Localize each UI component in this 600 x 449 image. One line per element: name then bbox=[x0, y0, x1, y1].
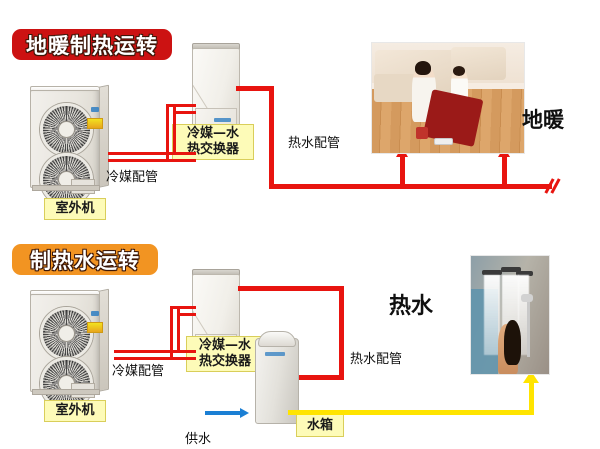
photo-handheld-shower bbox=[521, 294, 533, 302]
photo-woman-hair bbox=[415, 61, 432, 75]
outdoor-unit-2 bbox=[26, 288, 108, 396]
photo-child-hair bbox=[453, 66, 465, 76]
hotwater-pipe-riser-1 bbox=[269, 86, 274, 189]
outdoor-unit-body bbox=[30, 90, 100, 188]
refrigerant-pipe-vertical-inner-1 bbox=[166, 104, 169, 159]
photo-red-box bbox=[416, 127, 428, 139]
fan-icon bbox=[40, 307, 93, 360]
section-badge-floor-heating: 地暖制热运转 bbox=[12, 29, 172, 60]
hotwater-pipe-into-tank-2 bbox=[292, 375, 344, 380]
hot-water-tank bbox=[255, 330, 297, 422]
hotwater-pipe-top-2 bbox=[238, 286, 344, 291]
label-hotwater-pipe-1: 热水配管 bbox=[288, 132, 340, 151]
refrigerant-pipe-horizontal-upper-1 bbox=[108, 159, 196, 162]
refrigerant-pipe-into-hydro-a-1 bbox=[166, 104, 196, 107]
photo-shower bbox=[470, 255, 550, 375]
label-hot-water: 热水 bbox=[389, 288, 433, 320]
outdoor-unit-base bbox=[32, 389, 100, 395]
refrigerant-pipe-horizontal-lower-2 bbox=[114, 350, 196, 353]
supply-line bbox=[205, 411, 241, 415]
photo-person-hair bbox=[504, 320, 521, 365]
outdoor-unit-body bbox=[30, 294, 100, 392]
hotwater-pipe-downcomer-2 bbox=[339, 286, 344, 380]
photo-shower-hose bbox=[527, 296, 530, 357]
arrow-right-icon bbox=[240, 408, 249, 418]
label-floor-heating: 地暖 bbox=[522, 104, 564, 134]
callout-water-tank: 水箱 bbox=[296, 414, 344, 437]
label-hotwater-pipe-2: 热水配管 bbox=[350, 348, 402, 367]
callout-outdoor-unit-1: 室外机 bbox=[44, 198, 106, 220]
refrigerant-pipe-into-hydro-b-2 bbox=[177, 313, 196, 316]
diagram-canvas: 地暖制热运转 室外机 冷媒—水 热交换器 冷媒配管 热水配管 bbox=[0, 0, 600, 449]
label-refrigerant-pipe-1: 冷媒配管 bbox=[106, 166, 158, 185]
photo-floor-heating bbox=[371, 42, 525, 154]
photo-sofa-arm bbox=[374, 74, 417, 103]
callout-heat-exchanger-2: 冷媒—水 热交换器 bbox=[186, 336, 264, 372]
brand-logo bbox=[265, 352, 285, 356]
energy-label-sticker bbox=[87, 322, 103, 333]
brand-logo bbox=[214, 118, 231, 122]
floor-heating-feed-1 bbox=[400, 156, 405, 188]
fan-icon bbox=[40, 103, 93, 156]
brand-logo bbox=[91, 311, 99, 316]
label-refrigerant-pipe-2: 冷媒配管 bbox=[112, 360, 164, 379]
tank-outlet-pipe-horizontal bbox=[288, 410, 534, 415]
callout-outdoor-unit-2: 室外机 bbox=[44, 400, 106, 422]
hotwater-pipe-run-1 bbox=[269, 184, 552, 189]
energy-label-sticker bbox=[87, 118, 103, 129]
refrigerant-pipe-into-hydro-b-1 bbox=[173, 111, 196, 114]
section-badge-hot-water: 制热水运转 bbox=[12, 244, 158, 275]
floor-heating-feed-2 bbox=[502, 156, 507, 188]
tank-outlet-pipe-riser bbox=[529, 382, 534, 415]
photo-remote-control bbox=[434, 138, 453, 146]
outdoor-unit-1 bbox=[26, 84, 108, 192]
label-water-supply: 供水 bbox=[185, 428, 211, 447]
tank-top-cap bbox=[258, 331, 296, 347]
outdoor-unit-base bbox=[32, 185, 100, 191]
refrigerant-pipe-horizontal-lower-1 bbox=[108, 152, 196, 155]
brand-logo bbox=[91, 107, 99, 112]
refrigerant-pipe-into-hydro-a-2 bbox=[170, 306, 196, 309]
refrigerant-pipe-vertical-inner-2 bbox=[170, 306, 173, 357]
